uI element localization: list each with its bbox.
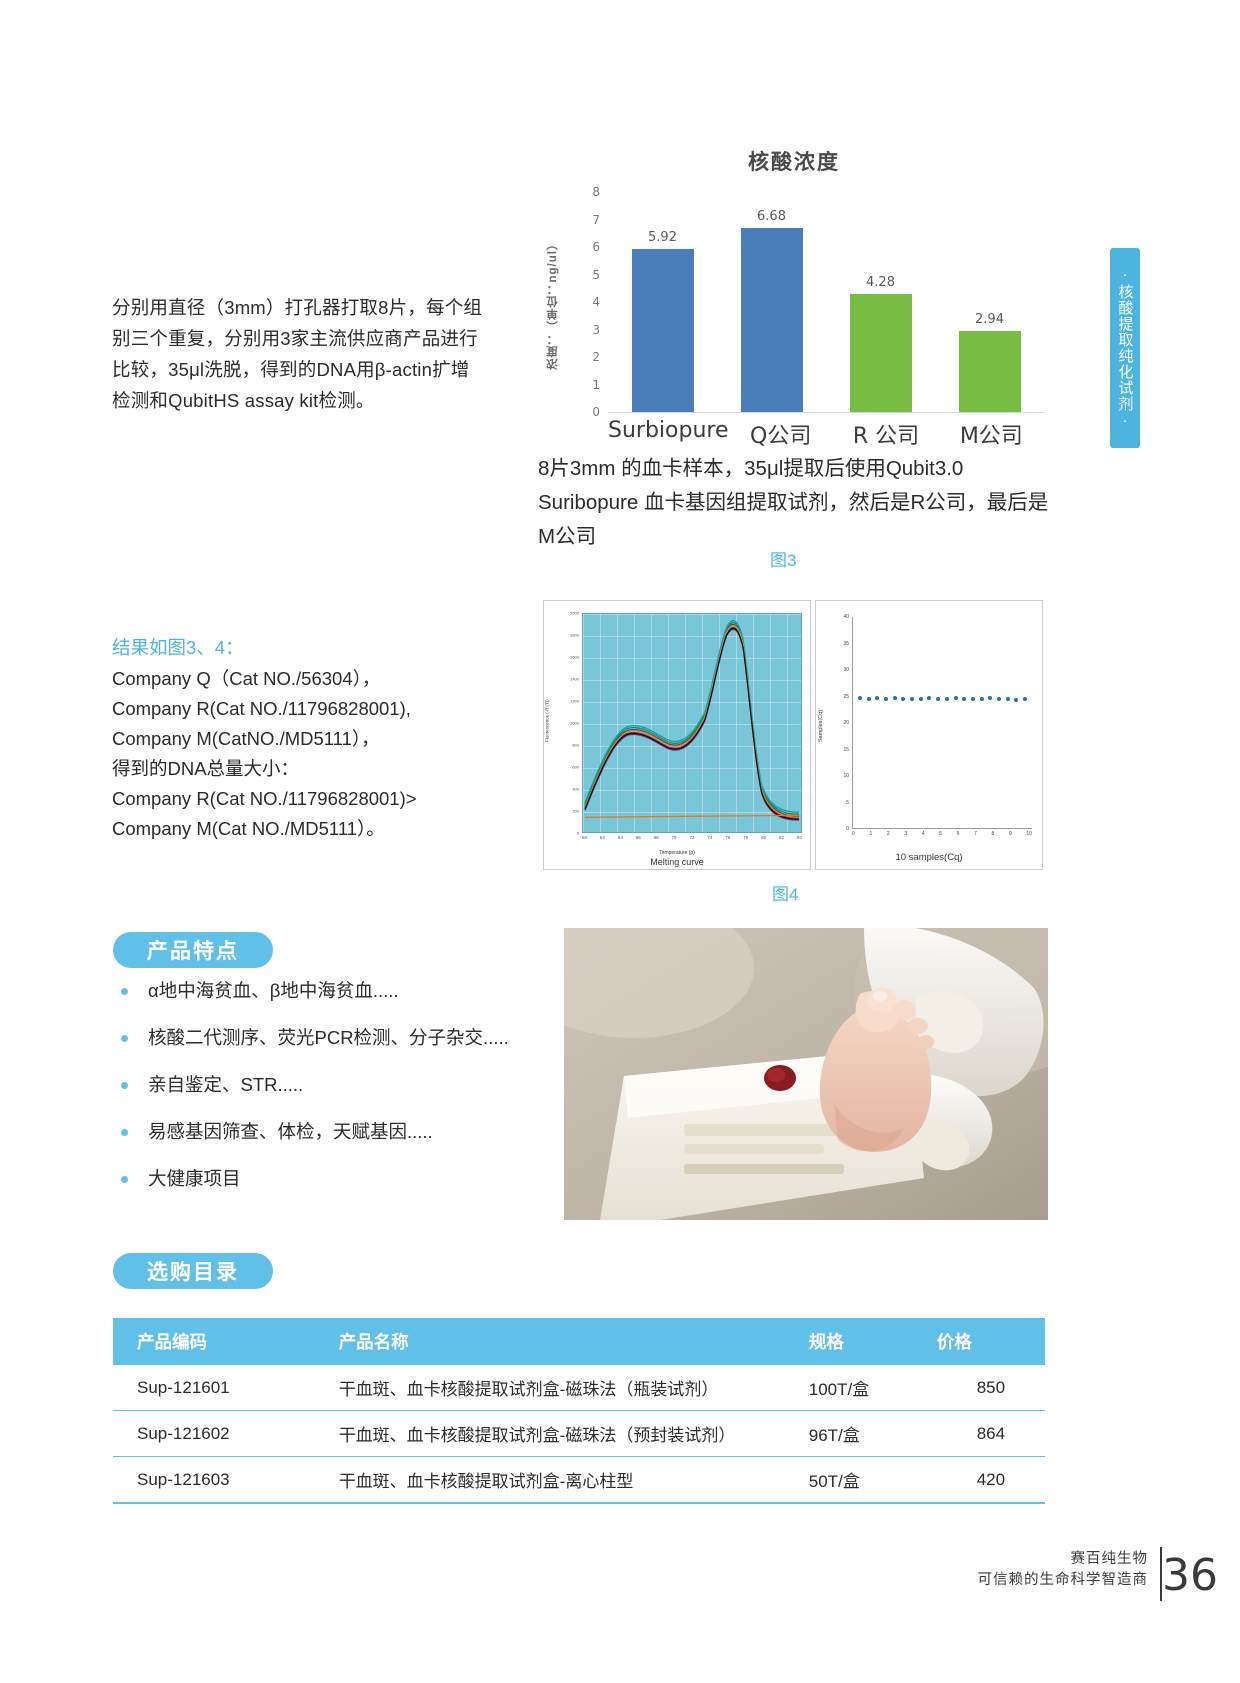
melting-y-tick: 1600 [570,655,579,660]
column-header-price: 价格 [937,1318,1045,1365]
cell-product-name: 干血斑、血卡核酸提取试剂盒-磁珠法（预封装试剂） [339,1411,809,1457]
melting-x-tick: 84 [797,835,802,845]
chart-x-tick-label: M公司 [939,418,1044,450]
melting-x-tick: 66 [636,835,641,845]
cq-y-tick: 30 [843,667,849,673]
cell-price: 864 [937,1411,1045,1457]
cq-data-point [893,696,897,700]
chart-y-tick: 7 [592,213,600,227]
chart-bar-value-label: 6.68 [741,209,803,224]
bullet-dot-icon [121,1035,128,1042]
cell-spec: 96T/盒 [809,1411,937,1457]
cq-x-tick: 9 [1009,831,1012,841]
cq-data-point [910,697,914,701]
melting-x-axis-label: Temperature (p) [544,850,810,856]
chart-y-tick: 5 [592,268,600,282]
cq-y-tick: 15 [843,747,849,753]
figure4-melting-curve: Fluorescence (-R'(T)) 200018001600140012… [543,600,811,870]
feature-item-label: 大健康项目 [148,1168,241,1189]
cq-data-point [997,697,1001,701]
melting-y-tick: 0 [577,831,579,836]
cq-data-point [980,697,984,701]
cell-spec: 50T/盒 [809,1457,937,1504]
cq-data-point [867,697,871,701]
melting-x-tick: 72 [689,835,694,845]
figure3-number: 图3 [770,546,796,571]
cq-y-tick: 35 [843,641,849,647]
table-row: Sup-121603干血斑、血卡核酸提取试剂盒-离心柱型50T/盒420 [113,1457,1045,1504]
footer-brand: 赛百纯生物 可信赖的生命科学智造商 [978,1549,1149,1591]
melting-caption: Melting curve [544,857,810,867]
chart-x-axis-labels: SurbiopureQ公司R 公司M公司 [608,418,1044,450]
feature-item: α地中海贫血、β地中海贫血..... [118,980,538,1002]
cq-data-point [1014,698,1018,702]
bullet-dot-icon [121,988,128,995]
cq-data-point [884,697,888,701]
bullet-dot-icon [121,1176,128,1183]
cq-x-tick: 8 [992,831,995,841]
cq-x-tick: 3 [904,831,907,841]
figure3-caption: 8片3mm 的血卡样本，35μl提取后使用Qubit3.0 Suribopure… [538,452,1050,554]
table-header-row: 产品编码 产品名称 规格 价格 [113,1318,1045,1365]
melting-y-tick: 1200 [570,699,579,704]
cq-data-point [962,697,966,701]
melting-x-tick: 68 [654,835,659,845]
results-block: 结果如图3、4： Company Q（Cat NO./56304）， Compa… [112,633,512,844]
chart-bar [741,228,803,412]
chart-y-tick: 2 [592,350,600,364]
melting-curves-svg [583,614,801,832]
chart-y-tick: 4 [592,295,600,309]
chart-plot-area: 5.926.684.282.94 [608,192,1044,413]
melting-y-tick: 400 [572,787,579,792]
section-heading-features: 产品特点 [113,932,273,968]
feature-item: 核酸二代测序、荧光PCR检测、分子杂交..... [118,1027,538,1049]
column-header-name: 产品名称 [339,1318,809,1365]
intro-paragraph: 分别用直径（3mm）打孔器打取8片，每个组别三个重复，分别用3家主流供应商产品进… [112,292,484,416]
cell-product-name: 干血斑、血卡核酸提取试剂盒-磁珠法（瓶装试剂） [339,1365,809,1411]
melting-x-tick: 76 [725,835,730,845]
cq-x-tick: 6 [957,831,960,841]
figure4-number: 图4 [772,880,798,905]
footer-slogan: 可信赖的生命科学智造商 [978,1570,1149,1591]
chart-y-axis: 012345678 [582,192,604,412]
cq-data-point [936,697,940,701]
chart-plot: 012345678 5.926.684.282.94 [582,192,1044,412]
cq-x-axis-ticks: 012345678910 [852,831,1032,841]
melting-y-tick: 1800 [570,633,579,638]
results-line-2: Company R(Cat NO./11796828001), [112,694,512,724]
melting-x-tick: 74 [707,835,712,845]
chart-bar [959,331,1021,412]
side-tab-label: ·核酸提取纯化试剂· [1115,266,1136,430]
feature-item: 易感基因筛查、体检，天赋基因..... [118,1121,538,1143]
chart-bar-group: 6.68 [741,192,803,412]
melting-y-tick: 600 [572,765,579,770]
footer-company: 赛百纯生物 [978,1549,1149,1570]
melting-x-tick: 82 [779,835,784,845]
cq-y-tick: 40 [843,614,849,620]
cq-y-tick: 25 [843,694,849,700]
melting-x-tick: 70 [672,835,677,845]
chart-bar [850,294,912,412]
chart-y-tick: 1 [592,378,600,392]
chart-y-axis-label: 浓度：（单位：ng/ul） [544,198,562,410]
melting-x-tick: 62 [600,835,605,845]
bullet-dot-icon [121,1082,128,1089]
photo-illustration [564,928,1048,1220]
cq-data-point [945,697,949,701]
chart-x-tick-label: R 公司 [833,418,938,450]
results-title: 结果如图3、4： [112,633,512,663]
chart-bar-group: 2.94 [959,192,1021,412]
melting-x-tick: 78 [743,835,748,845]
figure4: Fluorescence (-R'(T)) 200018001600140012… [543,600,1045,870]
cq-data-point [954,696,958,700]
cq-data-point [927,696,931,700]
page-number: 36 [1162,1550,1218,1601]
melting-y-tick: 800 [572,743,579,748]
melting-y-tick: 1400 [570,677,579,682]
cell-spec: 100T/盒 [809,1365,937,1411]
chart-y-tick: 0 [592,405,600,419]
melting-x-axis-ticks: 60626466687072747678808284 [582,835,802,845]
cell-product-code: Sup-121602 [113,1411,339,1457]
chart-title: 核酸浓度 [536,146,1052,176]
feature-item-label: 核酸二代测序、荧光PCR检测、分子杂交..... [148,1027,509,1048]
cq-data-point [919,697,923,701]
column-header-code: 产品编码 [113,1318,339,1365]
side-tab: ·核酸提取纯化试剂· [1110,248,1140,448]
bullet-dot-icon [121,1129,128,1136]
cq-data-point [1023,697,1027,701]
catalog-table: 产品编码 产品名称 规格 价格 Sup-121601干血斑、血卡核酸提取试剂盒-… [113,1318,1045,1504]
feature-item-label: 亲自鉴定、STR..... [148,1074,303,1095]
melting-y-axis: 2000180016001400120010008006004002000 [548,613,580,833]
melting-y-tick: 200 [572,809,579,814]
chart-bar-value-label: 4.28 [850,275,912,290]
cq-y-axis: 4035302520151050 [824,617,850,829]
cq-x-tick: 5 [939,831,942,841]
cq-data-point [875,696,879,700]
results-line-1: Company Q（Cat NO./56304）， [112,664,512,694]
cq-x-tick: 1 [869,831,872,841]
figure3-chart: 核酸浓度 浓度：（单位：ng/ul） 012345678 5.926.684.2… [536,140,1052,440]
table-row: Sup-121601干血斑、血卡核酸提取试剂盒-磁珠法（瓶装试剂）100T/盒8… [113,1365,1045,1411]
chart-y-tick: 3 [592,323,600,337]
cq-x-tick: 4 [922,831,925,841]
figure4-cq-scatter: Samples(Cq) 4035302520151050 01234567891… [815,600,1043,870]
cell-product-code: Sup-121603 [113,1457,339,1504]
features-list: α地中海贫血、β地中海贫血.....核酸二代测序、荧光PCR检测、分子杂交...… [118,980,538,1215]
melting-x-tick: 60 [582,835,587,845]
cq-y-tick: 10 [843,773,849,779]
melting-x-tick: 64 [618,835,623,845]
cq-data-point [1006,697,1010,701]
cq-y-tick: 20 [843,720,849,726]
chart-y-tick: 6 [592,240,600,254]
feature-item: 大健康项目 [118,1168,538,1190]
product-photo [564,928,1048,1220]
chart-bar-group: 4.28 [850,192,912,412]
melting-plot-area [582,613,802,833]
chart-bar [632,249,694,412]
cq-data-point [971,697,975,701]
feature-item: 亲自鉴定、STR..... [118,1074,538,1096]
cq-data-point [858,696,862,700]
chart-bar-value-label: 2.94 [959,312,1021,327]
cell-price: 850 [937,1365,1045,1411]
cq-x-tick: 0 [852,831,855,841]
chart-bar-value-label: 5.92 [632,230,694,245]
results-line-4: 得到的DNA总量大小： [112,754,512,784]
melting-y-tick: 2000 [570,611,579,616]
cq-data-point [988,696,992,700]
cq-x-tick: 2 [887,831,890,841]
cq-caption: 10 samples(Cq) [816,852,1042,863]
chart-bar-group: 5.92 [632,192,694,412]
cq-y-tick: 5 [846,800,849,806]
results-line-5: Company R(Cat NO./11796828001)> [112,784,512,814]
chart-x-tick-label: Surbiopure [608,418,728,450]
cq-x-tick: 7 [974,831,977,841]
results-line-6: Company M(Cat NO./MD5111）。 [112,814,512,844]
cell-price: 420 [937,1457,1045,1504]
table-row: Sup-121602干血斑、血卡核酸提取试剂盒-磁珠法（预封装试剂）96T/盒8… [113,1411,1045,1457]
cq-x-tick: 10 [1026,831,1032,841]
melting-x-tick: 80 [761,835,766,845]
column-header-spec: 规格 [809,1318,937,1365]
section-heading-catalog: 选购目录 [113,1253,273,1289]
cell-product-code: Sup-121601 [113,1365,339,1411]
results-line-3: Company M(CatNO./MD5111）， [112,724,512,754]
feature-item-label: α地中海贫血、β地中海贫血..... [148,980,399,1001]
cell-product-name: 干血斑、血卡核酸提取试剂盒-离心柱型 [339,1457,809,1504]
chart-x-tick-label: Q公司 [728,418,833,450]
feature-item-label: 易感基因筛查、体检，天赋基因..... [148,1121,433,1142]
melting-y-tick: 1000 [570,721,579,726]
cq-plot-area [852,617,1032,829]
page-root: ·核酸提取纯化试剂· 分别用直径（3mm）打孔器打取8片，每个组别三个重复，分别… [0,0,1240,1683]
cq-y-tick: 0 [846,826,849,832]
cq-data-point [901,697,905,701]
chart-y-tick: 8 [592,185,600,199]
